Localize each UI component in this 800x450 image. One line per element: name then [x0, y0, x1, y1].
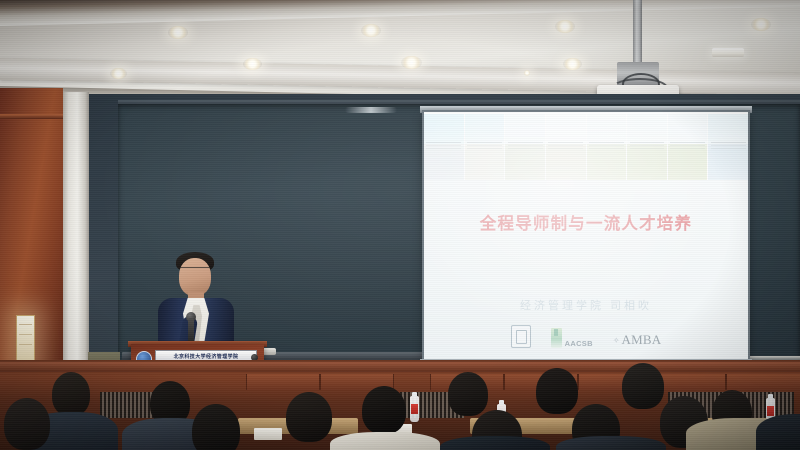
slide-accreditation-logos: AACSB ✧ AMBA [424, 325, 748, 348]
audience-head [4, 398, 50, 450]
audience-shoulders [556, 436, 666, 450]
wood-wall-panel-left [0, 88, 63, 388]
banner-photo [668, 114, 708, 180]
aacsb-logo: AACSB [551, 328, 593, 348]
audience-head [448, 372, 488, 416]
downlight [243, 58, 262, 70]
speaker-head [179, 258, 211, 296]
ceiling [0, 0, 800, 95]
amba-logo: ✧ AMBA [613, 332, 662, 348]
downlight [555, 20, 575, 33]
wall-sconce [16, 315, 35, 365]
lecture-hall-photo: 全程导师制与一流人才培养 经济管理学院 司相吹 AACSB ✧ AMBA [0, 0, 800, 450]
wall-wainscot [726, 374, 800, 390]
water-bottle [410, 396, 419, 422]
banner-photo [546, 114, 586, 180]
projection-screen: 全程导师制与一流人才培养 经济管理学院 司相吹 AACSB ✧ AMBA [424, 112, 748, 362]
audience-head [536, 368, 578, 414]
audience-head [52, 372, 90, 416]
ceiling-soffit [0, 0, 800, 26]
banner-photo [465, 114, 505, 180]
aacsb-label: AACSB [565, 339, 593, 348]
downlight [751, 18, 771, 31]
slide-photo-banner [424, 114, 748, 180]
aacsb-mark-icon [551, 328, 562, 348]
audience-head [362, 386, 406, 434]
downlight [110, 68, 127, 79]
slide-title: 全程导师制与一流人才培养 [424, 210, 748, 234]
university-seal-logo [511, 325, 531, 348]
banner-photo [627, 114, 667, 180]
glasses-icon [180, 267, 210, 274]
strip-light [712, 48, 744, 57]
wall-wainscot [246, 374, 320, 390]
downlight [361, 24, 381, 37]
presentation-slide: 全程导师制与一流人才培养 经济管理学院 司相吹 AACSB ✧ AMBA [424, 112, 748, 362]
audience-head [286, 392, 332, 442]
projector-mount-pole [633, 0, 642, 66]
audience-head [192, 404, 240, 450]
audience-shoulders [440, 436, 550, 450]
wood-rail [0, 362, 800, 372]
downlight [168, 26, 188, 39]
amba-label: AMBA [622, 332, 662, 348]
downlight [524, 70, 530, 76]
downlight [563, 58, 582, 70]
banner-photo [708, 114, 748, 180]
slide-subtitle: 经济管理学院 司相吹 [424, 297, 748, 313]
podium-sign-chinese: 北京科技大学经济管理学院 [174, 353, 239, 360]
banner-photo [505, 114, 545, 180]
banner-photo [424, 114, 464, 180]
downlight [401, 56, 422, 69]
banner-photo [587, 114, 627, 180]
audience-shoulders [330, 432, 440, 450]
audience-head [622, 363, 664, 409]
paper-sheet [254, 428, 282, 440]
white-pillar [63, 92, 89, 382]
amba-swirl-icon: ✧ [613, 336, 620, 345]
chalkboard-glare [345, 107, 397, 113]
